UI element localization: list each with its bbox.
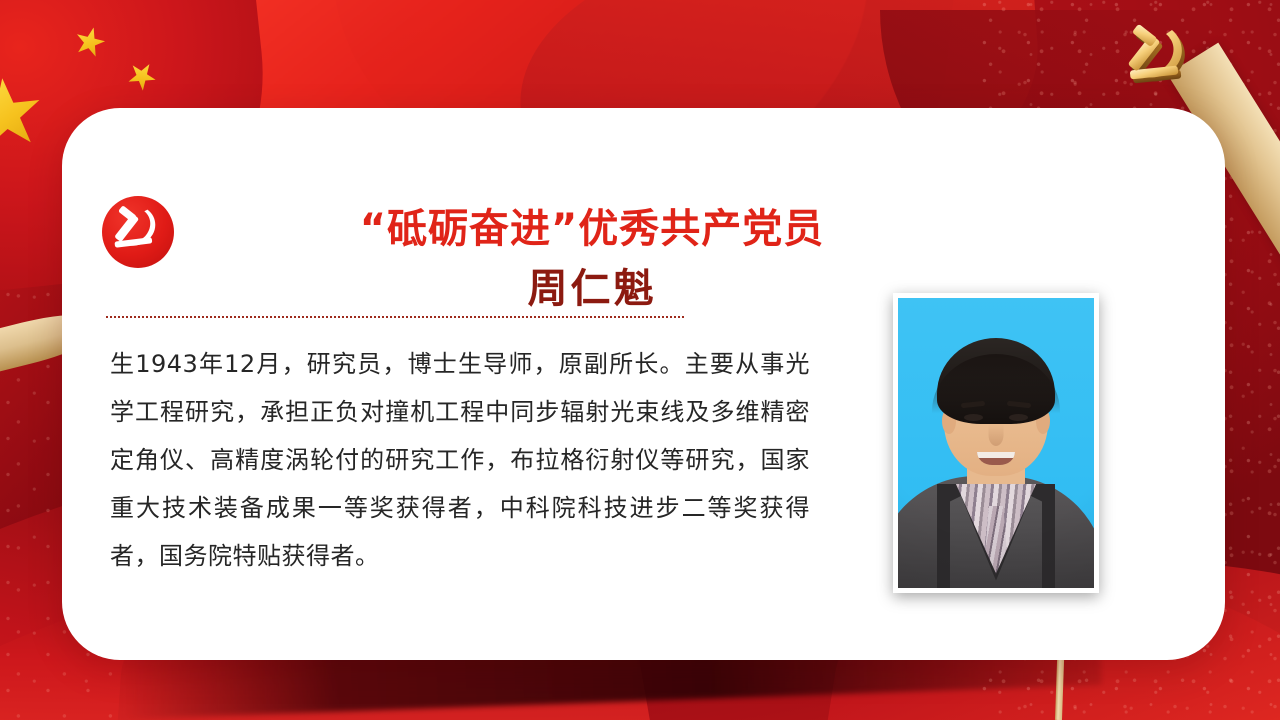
cpc-hammer-sickle-emblem xyxy=(1112,18,1208,98)
portrait-vignette xyxy=(898,298,1094,588)
biography-text: 生1943年12月，研究员，博士生导师，原副所长。主要从事光学工程研究，承担正负… xyxy=(110,340,810,580)
portrait-photo xyxy=(898,298,1094,588)
cpc-party-badge xyxy=(102,196,174,268)
content-card: “砥砺奋进”优秀共产党员 周仁魁 生1943年12月，研究员，博士生导师，原副所… xyxy=(62,108,1225,660)
page-title-name: 周仁魁 xyxy=(212,256,972,314)
page-title-main: “砥砺奋进”优秀共产党员 xyxy=(212,196,972,254)
dotted-divider xyxy=(106,316,684,318)
slide-canvas: “砥砺奋进”优秀共产党员 周仁魁 生1943年12月，研究员，博士生导师，原副所… xyxy=(0,0,1280,720)
portrait-photo-frame xyxy=(893,293,1099,593)
